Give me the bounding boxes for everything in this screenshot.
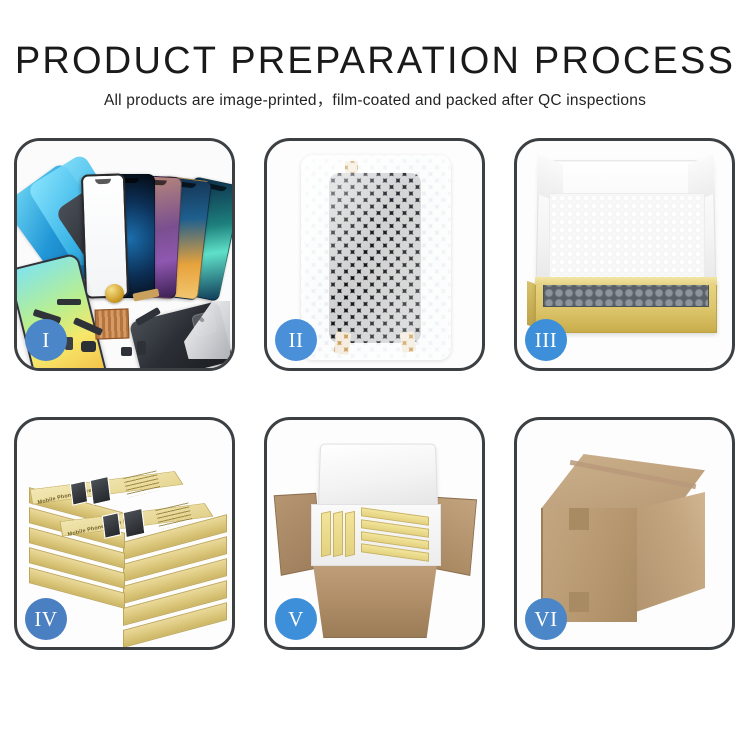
small-part-icon — [137, 341, 146, 355]
page-subtitle: All products are image-printed，film-coat… — [0, 91, 750, 111]
plastic-sheen-overlay — [301, 155, 451, 360]
step-badge-5: V — [275, 598, 317, 640]
box-window-icon — [70, 480, 88, 506]
box-window-icon — [123, 508, 146, 538]
step-numeral: II — [289, 328, 304, 353]
carton-side-icon — [636, 492, 705, 612]
box-spec-lines-icon — [123, 470, 161, 497]
box-rim-icon — [535, 277, 717, 285]
step-numeral: I — [42, 328, 50, 353]
process-step-panel-3[interactable]: III — [514, 138, 735, 371]
small-part-icon — [81, 341, 96, 352]
retail-box-icon — [321, 511, 331, 557]
small-part-icon — [121, 347, 132, 356]
process-step-panel-6[interactable]: VI — [514, 417, 735, 650]
page-header: PRODUCT PREPARATION PROCESS All products… — [0, 0, 750, 111]
retail-box-icon — [333, 511, 343, 557]
process-step-grid: I II — [14, 138, 736, 683]
page-title: PRODUCT PREPARATION PROCESS — [0, 40, 750, 82]
step-badge-4: IV — [25, 598, 67, 640]
vibration-motor-icon — [105, 284, 124, 303]
step-numeral: III — [535, 328, 557, 353]
process-step-panel-1[interactable]: I — [14, 138, 235, 371]
tempered-glass-icon — [81, 173, 129, 298]
bubble-wrap-bag-icon — [301, 155, 451, 360]
step-numeral: VI — [534, 607, 557, 632]
box-window-icon — [102, 512, 121, 539]
phone-lineup-icon — [81, 163, 231, 298]
notch-icon — [95, 179, 111, 185]
carton-body-icon — [307, 560, 443, 638]
process-step-panel-2[interactable]: II — [264, 138, 485, 371]
process-step-panel-5[interactable]: V — [264, 417, 485, 650]
foam-padding-icon — [549, 193, 705, 285]
step-numeral: IV — [34, 607, 57, 632]
box-window-icon — [90, 476, 112, 505]
step-numeral: V — [288, 607, 304, 632]
step-badge-1: I — [25, 319, 67, 361]
styrofoam-lid-icon — [318, 444, 438, 510]
retail-box-icon — [345, 511, 355, 557]
step-badge-2: II — [275, 319, 317, 361]
process-step-panel-4[interactable]: Mobile Phone Spare Parts Mobile Phone Sp… — [14, 417, 235, 650]
packing-tape-icon — [569, 592, 589, 612]
step-badge-6: VI — [525, 598, 567, 640]
speaker-part-icon — [57, 299, 81, 305]
step-badge-3: III — [525, 319, 567, 361]
packing-tape-icon — [569, 508, 589, 530]
